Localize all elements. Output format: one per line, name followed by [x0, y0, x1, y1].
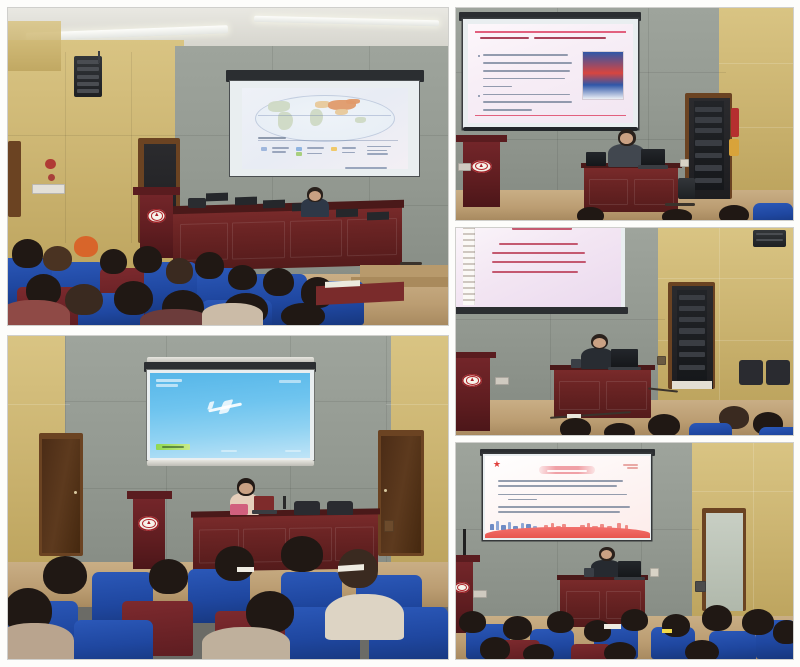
red-star-icon: ★ [493, 460, 501, 469]
presenter-right-2 [581, 348, 615, 369]
photo-collage: ▲ [0, 0, 800, 667]
equipment-rack [694, 101, 724, 190]
presenter-right-1 [608, 144, 645, 167]
panel-right-2: ▲ [456, 228, 793, 435]
projection-screen [230, 81, 419, 176]
projection-screen-right-3: ★ [483, 454, 652, 540]
laptop-right-1 [641, 149, 665, 166]
notebook-pink-slide [456, 228, 621, 309]
equipment-rack-2 [677, 290, 707, 381]
world-map-slide [242, 88, 408, 170]
blue-sky-slide [150, 373, 311, 458]
city-skyline-graphic [485, 517, 650, 539]
projection-screen-right-2 [456, 228, 625, 309]
podium-bottom-left: ▲ [133, 498, 165, 569]
podium-right-1: ▲ [463, 139, 500, 207]
podium-emblem: ▲ [147, 209, 166, 224]
projection-screen-right-1 [463, 19, 638, 129]
slide-inset-image [583, 52, 623, 100]
panel-right-3: ★ [456, 443, 793, 659]
panel-right-1: ▲ [456, 8, 793, 220]
map-legend [258, 140, 398, 166]
door-right-3 [702, 508, 746, 612]
text-bullets-slide [468, 24, 633, 123]
airplane-graphic [207, 397, 243, 416]
podium-emblem-2: ▲ [138, 516, 159, 531]
panel-top-left: ▲ [8, 8, 448, 325]
laptop-right-2 [611, 349, 638, 368]
red-theme-slide: ★ [485, 456, 650, 539]
laptop-right-3 [618, 561, 642, 578]
door-right-bottom [378, 430, 424, 556]
podium-right-2: ▲ [456, 356, 490, 431]
slide-tag [156, 444, 190, 450]
lecture-table-right-2 [554, 369, 652, 419]
panel-bottom-left: ▲ [8, 336, 448, 659]
door-left-bottom [39, 433, 83, 556]
notebook-spiral [463, 228, 476, 305]
projection-screen-bottom-left [147, 370, 314, 460]
presenter-right-3 [591, 560, 621, 577]
